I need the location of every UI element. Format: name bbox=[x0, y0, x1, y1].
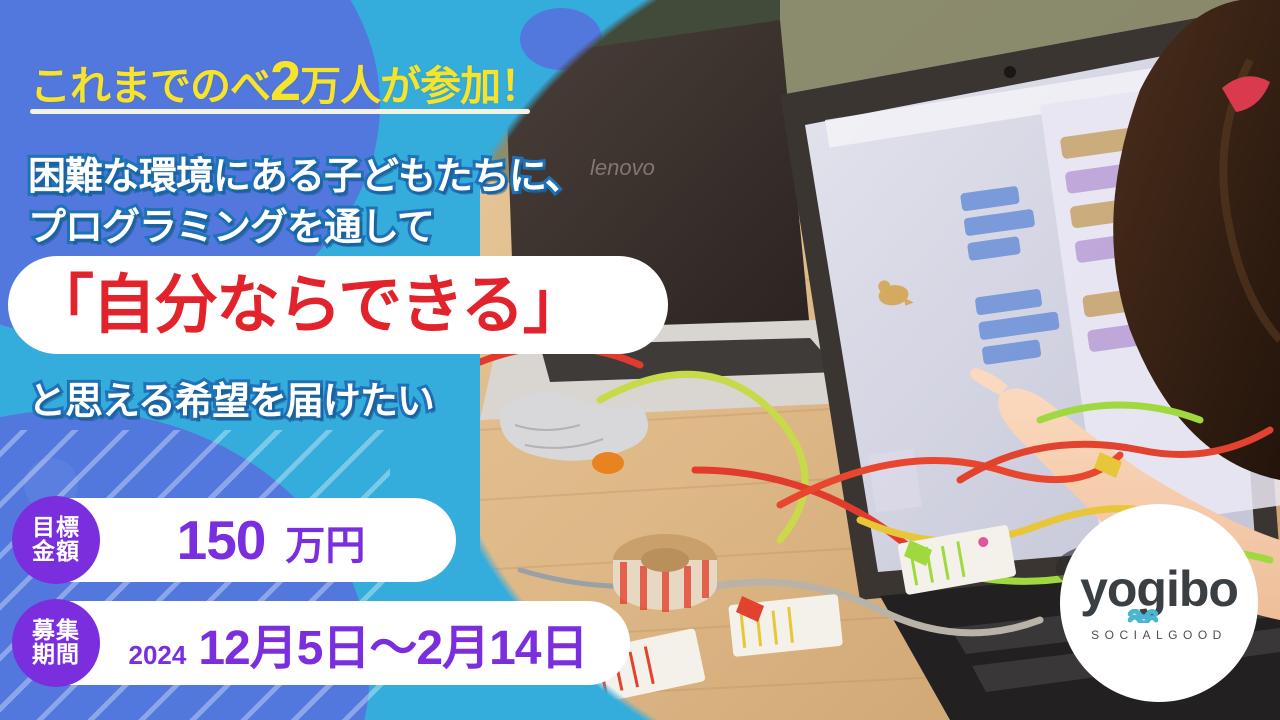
eyebrow-suffix: 万人が参加！ bbox=[300, 63, 540, 109]
period-pill: 募集 期間 2024 12月5日〜2月14日 bbox=[14, 601, 630, 685]
eyebrow-number: 2 bbox=[270, 49, 300, 112]
goal-amount: 150 bbox=[177, 508, 266, 572]
subhead-line-3: と思える希望を届けたい bbox=[28, 370, 434, 425]
goal-badge: 目標 金額 bbox=[12, 496, 100, 584]
goal-amount-pill: 目標 金額 150 万円 bbox=[14, 498, 456, 582]
period-dates: 12月5日〜2月14日 bbox=[198, 608, 587, 678]
quote-text: 「自分ならできる」 bbox=[8, 273, 585, 337]
period-badge-line-1: 募集 bbox=[32, 619, 80, 643]
goal-badge-line-2: 金額 bbox=[32, 540, 80, 564]
period-badge-line-2: 期間 bbox=[32, 643, 80, 667]
eyebrow-text: これまでのべ2万人が参加！ bbox=[30, 52, 540, 112]
quote-pill: 「自分ならできる」 bbox=[8, 256, 668, 354]
goal-badge-line-1: 目標 bbox=[32, 516, 80, 540]
period-year: 2024 bbox=[128, 640, 186, 671]
squiggle-icon bbox=[1128, 609, 1158, 623]
period-badge: 募集 期間 bbox=[12, 599, 100, 687]
campaign-banner: lenovo bbox=[0, 0, 1280, 720]
subhead-line-1: 困難な環境にある子どもたちに、 bbox=[28, 145, 582, 200]
logo-word-text: yogibo bbox=[1080, 561, 1238, 617]
goal-value: 150 万円 bbox=[100, 508, 456, 572]
goal-amount-unit: 万円 bbox=[285, 513, 365, 571]
svg-text:lenovo: lenovo bbox=[590, 155, 655, 180]
logo-wordmark: yogibo bbox=[1080, 564, 1238, 614]
subhead-line-2: プログラミングを通して bbox=[28, 196, 434, 251]
period-value: 2024 12月5日〜2月14日 bbox=[100, 608, 630, 678]
eyebrow-underline bbox=[30, 109, 530, 114]
yogibo-logo: yogibo SOCIALGOOD bbox=[1060, 504, 1258, 702]
logo-tagline: SOCIALGOOD bbox=[1091, 628, 1227, 642]
eyebrow-prefix: これまでのべ bbox=[30, 63, 270, 109]
